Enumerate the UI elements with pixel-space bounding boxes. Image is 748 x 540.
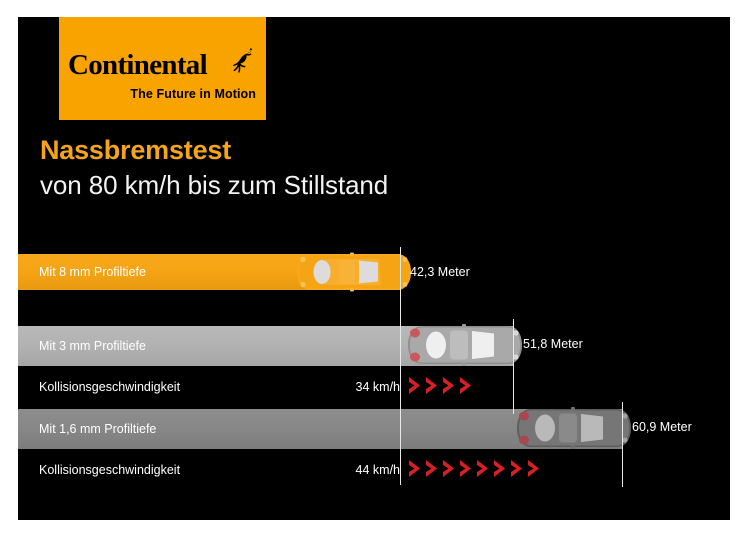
logo-wordmark-row: Continental — [68, 51, 258, 85]
continental-logo: Continental The Future in Motion — [59, 17, 266, 120]
bar-label-8mm: Mit 8 mm Profiltiefe — [18, 265, 146, 279]
logo-tagline: The Future in Motion — [59, 87, 256, 101]
bar-label-3mm: Mit 3 mm Profiltiefe — [18, 339, 146, 353]
distance-label-3mm: 51,8 Meter — [523, 337, 583, 351]
distance-label-16mm: 60,9 Meter — [632, 420, 692, 434]
collision-label-16mm: Kollisionsgeschwindigkeit — [18, 463, 180, 477]
car-icon-3mm — [406, 322, 524, 368]
bar-label-16mm: Mit 1,6 mm Profiltiefe — [18, 422, 156, 436]
collision-row-3mm: Kollisionsgeschwindigkeit — [18, 375, 513, 399]
infographic-poster: Continental The Future in Motion Nassbre… — [0, 0, 748, 540]
car-icon-16mm — [515, 405, 633, 451]
collision-label-3mm: Kollisionsgeschwindigkeit — [18, 380, 180, 394]
car-icon-8mm — [295, 250, 413, 294]
measure-line-8mm — [400, 247, 401, 485]
distance-label-8mm: 42,3 Meter — [410, 265, 470, 279]
rearing-horse-icon — [231, 47, 257, 75]
measure-line-3mm — [513, 319, 514, 414]
logo-wordmark-text: Continental — [68, 51, 207, 80]
poster-canvas: Continental The Future in Motion Nassbre… — [18, 17, 730, 520]
collision-row-16mm: Kollisionsgeschwindigkeit — [18, 458, 622, 482]
measure-line-16mm — [622, 402, 623, 487]
